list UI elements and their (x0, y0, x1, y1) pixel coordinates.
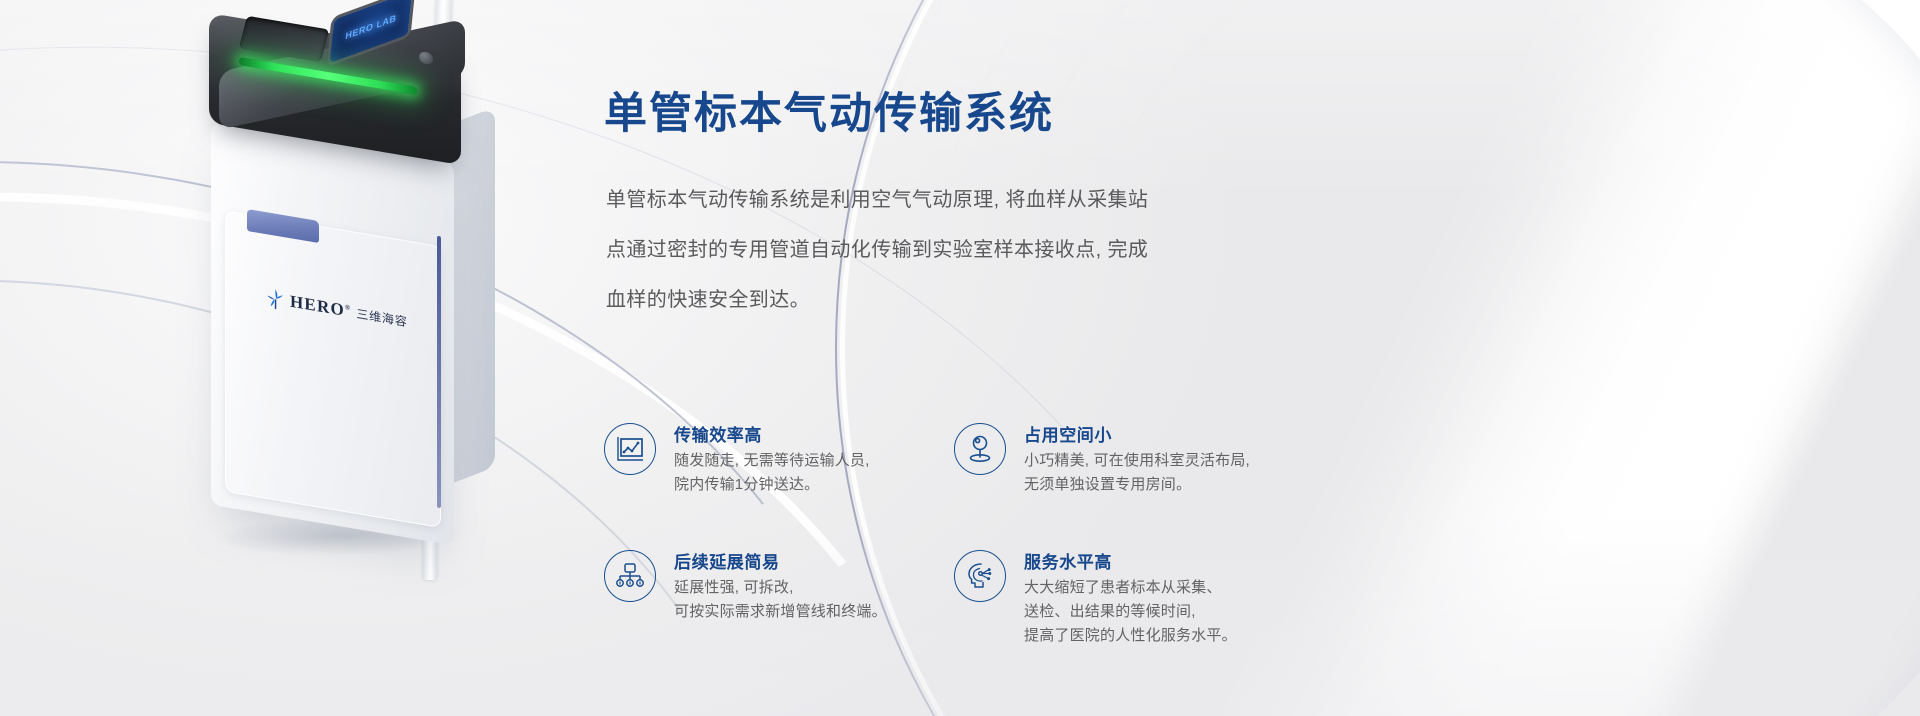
feature-title: 服务水平高 (1024, 548, 1237, 573)
device-screen-logo: HERO LAB (345, 13, 397, 42)
device-door-edge (437, 236, 441, 509)
product-banner: HERO LAB HERO® 三维海容 单管标本气动传输系统 单管标本气动传输系… (0, 0, 1920, 716)
feature-desc-line: 提高了医院的人性化服务水平。 (1024, 624, 1237, 648)
feature-desc-line: 可按实际需求新增管线和终端。 (674, 600, 887, 624)
feature-description: 随发随走, 无需等待运输人员, 院内传输1分钟送达。 (674, 449, 870, 497)
feature-grid: 传输效率高 随发随走, 无需等待运输人员, 院内传输1分钟送达。 (604, 420, 1364, 648)
feature-title: 传输效率高 (674, 421, 870, 446)
banner-content: 单管标本气动传输系统 单管标本气动传输系统是利用空气气动原理, 将血样从采集站 … (604, 0, 1364, 716)
feature-description: 大大缩短了患者标本从采集、 送检、出结果的等候时间, 提高了医院的人性化服务水平… (1024, 576, 1237, 648)
brand-registered-mark: ® (345, 303, 351, 312)
brand-name-en: HERO® (290, 292, 351, 322)
description-line-2: 点通过密封的专用管道自动化传输到实验室样本接收点, 完成 (606, 225, 1266, 275)
space-pin-icon (954, 423, 1006, 475)
feature-desc-line: 无须单独设置专用房间。 (1024, 473, 1250, 497)
product-device-image: HERO LAB HERO® 三维海容 (195, 0, 555, 610)
feature-desc-line: 延展性强, 可拆改, (674, 576, 887, 600)
network-tree-icon (604, 550, 656, 602)
chart-growth-icon (604, 423, 656, 475)
feature-desc-line: 小巧精美, 可在使用科室灵活布局, (1024, 449, 1250, 473)
feature-text: 占用空间小 小巧精美, 可在使用科室灵活布局, 无须单独设置专用房间。 (1024, 420, 1250, 497)
feature-desc-line: 随发随走, 无需等待运输人员, (674, 449, 870, 473)
feature-description: 延展性强, 可拆改, 可按实际需求新增管线和终端。 (674, 576, 887, 624)
feature-title: 后续延展简易 (674, 548, 887, 573)
feature-text: 后续延展简易 延展性强, 可拆改, 可按实际需求新增管线和终端。 (674, 547, 887, 624)
feature-description: 小巧精美, 可在使用科室灵活布局, 无须单独设置专用房间。 (1024, 449, 1250, 497)
feature-text: 服务水平高 大大缩短了患者标本从采集、 送检、出结果的等候时间, 提高了医院的人… (1024, 547, 1237, 648)
page-title: 单管标本气动传输系统 (604, 91, 1054, 138)
brand-name-cn: 三维海容 (356, 304, 407, 330)
device-front-door (225, 210, 441, 528)
smart-head-icon (954, 550, 1006, 602)
feature-text: 传输效率高 随发随走, 无需等待运输人员, 院内传输1分钟送达。 (674, 420, 870, 497)
description-line-3: 血样的快速安全到达。 (606, 275, 1266, 325)
hero-logo-mark (265, 286, 285, 311)
feature-item-service-level: 服务水平高 大大缩短了患者标本从采集、 送检、出结果的等候时间, 提高了医院的人… (954, 547, 1354, 648)
feature-desc-line: 送检、出结果的等候时间, (1024, 600, 1237, 624)
description-line-1: 单管标本气动传输系统是利用空气气动原理, 将血样从采集站 (606, 175, 1266, 225)
feature-title: 占用空间小 (1024, 421, 1250, 446)
feature-item-transmission-efficiency: 传输效率高 随发随走, 无需等待运输人员, 院内传输1分钟送达。 (604, 420, 954, 535)
feature-item-easy-expansion: 后续延展简易 延展性强, 可拆改, 可按实际需求新增管线和终端。 (604, 547, 954, 648)
feature-desc-line: 院内传输1分钟送达。 (674, 473, 870, 497)
feature-item-small-footprint: 占用空间小 小巧精美, 可在使用科室灵活布局, 无须单独设置专用房间。 (954, 420, 1354, 535)
product-description: 单管标本气动传输系统是利用空气气动原理, 将血样从采集站 点通过密封的专用管道自… (606, 175, 1266, 325)
feature-desc-line: 大大缩短了患者标本从采集、 (1024, 576, 1237, 600)
